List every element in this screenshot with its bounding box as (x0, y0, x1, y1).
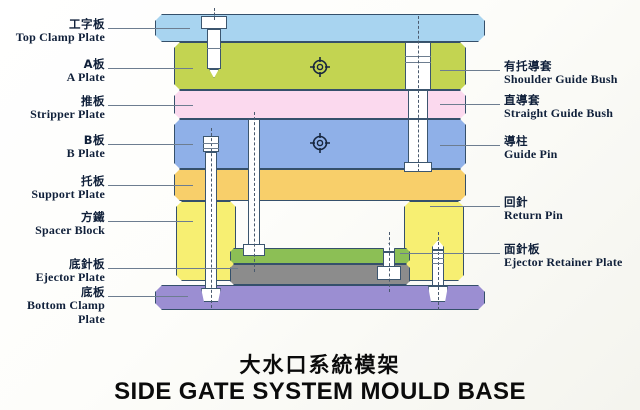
label-bottom-clamp-plate: 底板 Bottom Clamp Plate (0, 286, 105, 326)
bottom-screw-thread-1 (432, 258, 444, 259)
title-chinese: 大水口系統模架 (0, 352, 640, 378)
label-en: Shoulder Guide Bush (504, 73, 640, 87)
leader-top-clamp-plate (108, 28, 190, 29)
return-pin-centerline (389, 232, 390, 292)
ejector-pin-thread-2 (203, 148, 219, 149)
leader-spacer-block (108, 221, 193, 222)
top-screw-shank (207, 29, 221, 69)
title-english: SIDE GATE SYSTEM MOULD BASE (0, 378, 640, 406)
label-en: Support Plate (0, 188, 105, 202)
label-en: B Plate (0, 147, 105, 161)
top-screw-thread-line (207, 48, 221, 49)
leader-a-plate (108, 68, 193, 69)
label-en: A Plate (0, 71, 105, 85)
label-en: Ejector Plate (0, 271, 105, 285)
leader-ejector-retainer-plate (400, 253, 500, 254)
label-ejector-retainer-plate: 面針板 Ejector Retainer Plate (504, 243, 640, 270)
label-en: Straight Guide Bush (504, 107, 640, 121)
leader-stripper-plate (108, 105, 193, 106)
leader-guide-pin (440, 145, 500, 146)
bottom-screw-thread-2 (432, 263, 444, 264)
label-shoulder-guide-bush: 有托導套 Shoulder Guide Bush (504, 60, 640, 87)
leader-ejector-plate (108, 268, 238, 269)
label-en: Return Pin (504, 209, 640, 223)
crosshair-icon-b-plate (310, 133, 330, 153)
leader-return-pin (430, 206, 500, 207)
label-return-pin: 回針 Return Pin (504, 196, 640, 223)
diagram-page: 工字板 Top Clamp Plate A板 A Plate 推板 Stripp… (0, 0, 640, 410)
leader-bottom-clamp-plate (108, 296, 188, 297)
ejector-guide-pin-centerline (211, 128, 212, 308)
label-en: Spacer Block (0, 224, 105, 238)
leader-straight-guide-bush (440, 104, 500, 105)
leader-support-plate (108, 185, 193, 186)
label-guide-pin: 導柱 Guide Pin (504, 135, 640, 162)
page-title: 大水口系統模架 SIDE GATE SYSTEM MOULD BASE (0, 352, 640, 406)
label-top-clamp-plate: 工字板 Top Clamp Plate (0, 18, 105, 45)
label-en: Stripper Plate (0, 108, 105, 122)
top-screw-centerline (214, 8, 215, 20)
label-stripper-plate: 推板 Stripper Plate (0, 95, 105, 122)
label-a-plate: A板 A Plate (0, 58, 105, 85)
guide-pin-centerline (418, 16, 419, 172)
ejector-pin-thread-1 (203, 143, 219, 144)
crosshair-icon-a-plate (310, 57, 330, 77)
centre-ejector-centerline (254, 112, 255, 272)
bottom-screw-centerline (438, 232, 439, 310)
label-en: Bottom Clamp Plate (0, 299, 105, 326)
label-en: Guide Pin (504, 148, 640, 162)
label-b-plate: B板 B Plate (0, 134, 105, 161)
label-spacer-block: 方鐵 Spacer Block (0, 211, 105, 238)
label-en: Top Clamp Plate (0, 31, 105, 45)
plate-support-plate (174, 169, 466, 201)
leader-shoulder-guide-bush (440, 70, 500, 71)
label-ejector-plate: 底針板 Ejector Plate (0, 258, 105, 285)
label-support-plate: 托板 Support Plate (0, 175, 105, 202)
label-straight-guide-bush: 直導套 Straight Guide Bush (504, 94, 640, 121)
leader-b-plate (108, 144, 193, 145)
label-en: Ejector Retainer Plate (504, 256, 640, 270)
